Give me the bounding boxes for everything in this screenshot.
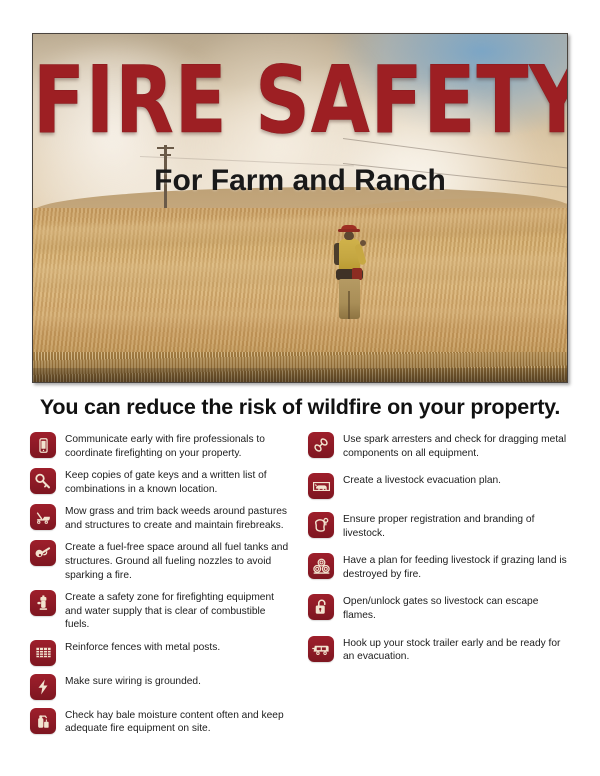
- tip-item: Hook up your stock trailer early and be …: [308, 636, 570, 664]
- tip-text: Mow grass and trim back weeds around pas…: [65, 504, 292, 532]
- tip-item: Create a livestock evacuation plan.: [308, 473, 570, 499]
- fence-icon: [30, 640, 56, 666]
- tip-text: Communicate early with fire professional…: [65, 432, 292, 460]
- hero-photo-frame: FIRE SAFETY For Farm and Ranch: [32, 33, 568, 383]
- lawn-mower-icon: [30, 504, 56, 530]
- foreground-shadow: [33, 368, 567, 382]
- tip-item: Have a plan for feeding livestock if gra…: [308, 553, 570, 581]
- tip-text: Create a safety zone for firefighting eq…: [65, 590, 292, 632]
- tip-text: Check hay bale moisture content often an…: [65, 708, 292, 736]
- field-band: [33, 208, 567, 253]
- tip-item: Reinforce fences with metal posts.: [30, 640, 292, 666]
- tip-text: Use spark arresters and check for draggi…: [343, 432, 570, 460]
- fire-extinguisher-icon: [30, 708, 56, 734]
- firefighter-head: [344, 231, 354, 240]
- poster-subtitle: For Farm and Ranch: [33, 164, 567, 198]
- headline: You can reduce the risk of wildfire on y…: [0, 395, 600, 420]
- field-band: [33, 306, 567, 337]
- wheat-field: [33, 208, 567, 382]
- chain-link-icon: [308, 432, 334, 458]
- tip-item: Open/unlock gates so livestock can escap…: [308, 594, 570, 622]
- lightning-bolt-icon: [30, 674, 56, 700]
- tip-item: Ensure proper registration and branding …: [308, 512, 570, 540]
- tip-text: Hook up your stock trailer early and be …: [343, 636, 570, 664]
- tip-text: Ensure proper registration and branding …: [343, 512, 570, 540]
- mobile-phone-icon: [30, 432, 56, 458]
- cattle-brand-icon: [308, 512, 334, 538]
- tip-item: Use spark arresters and check for draggi…: [308, 432, 570, 460]
- tip-text: Have a plan for feeding livestock if gra…: [343, 553, 570, 581]
- open-padlock-icon: [308, 594, 334, 620]
- poster-title: FIRE SAFETY: [33, 54, 567, 147]
- tip-text: Create a livestock evacuation plan.: [343, 473, 501, 488]
- firefighter-helmet: [341, 225, 357, 232]
- tip-text: Keep copies of gate keys and a written l…: [65, 468, 292, 496]
- firefighter-hand: [360, 240, 366, 246]
- field-band: [33, 254, 567, 291]
- tips-column-right: Use spark arresters and check for draggi…: [308, 432, 570, 744]
- tip-item: Mow grass and trim back weeds around pas…: [30, 504, 292, 532]
- tips-container: Communicate early with fire professional…: [30, 432, 570, 744]
- fire-hydrant-icon: [30, 590, 56, 616]
- tip-text: Open/unlock gates so livestock can escap…: [343, 594, 570, 622]
- tip-item: Create a fuel-free space around all fuel…: [30, 540, 292, 582]
- key-icon: [30, 468, 56, 494]
- tip-text: Reinforce fences with metal posts.: [65, 640, 220, 655]
- hay-bales-icon: [308, 553, 334, 579]
- stock-trailer-icon: [308, 636, 334, 662]
- tips-column-left: Communicate early with fire professional…: [30, 432, 292, 744]
- firefighter-figure: [333, 225, 367, 321]
- tip-item: Make sure wiring is grounded.: [30, 674, 292, 700]
- tip-item: Create a safety zone for firefighting eq…: [30, 590, 292, 632]
- tip-text: Make sure wiring is grounded.: [65, 674, 201, 689]
- cow-icon: [308, 473, 334, 499]
- tip-text: Create a fuel-free space around all fuel…: [65, 540, 292, 582]
- firefighter-legs: [339, 279, 360, 319]
- fire-safety-poster: FIRE SAFETY For Farm and Ranch You can r…: [0, 0, 600, 776]
- tip-item: Keep copies of gate keys and a written l…: [30, 468, 292, 496]
- fuel-nozzle-icon: [30, 540, 56, 566]
- tip-item: Check hay bale moisture content often an…: [30, 708, 292, 736]
- tip-item: Communicate early with fire professional…: [30, 432, 292, 460]
